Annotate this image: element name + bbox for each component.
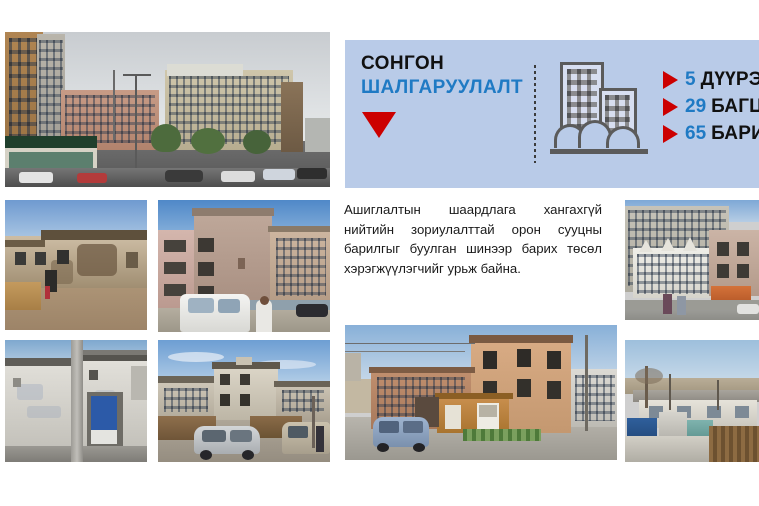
building-baseline bbox=[550, 149, 648, 154]
stat-number: 5 bbox=[685, 69, 696, 91]
photo-apartment-corner bbox=[158, 200, 330, 332]
arrow-right-icon bbox=[663, 71, 678, 89]
stat-label: БАГЦ bbox=[711, 96, 759, 118]
banner-title-line2: ШАЛГАРУУЛАЛТ bbox=[361, 76, 523, 100]
stat-number: 29 bbox=[685, 96, 706, 118]
arrow-right-icon bbox=[663, 98, 678, 116]
dotted-divider bbox=[534, 65, 536, 163]
triangle-down-icon bbox=[362, 112, 396, 138]
photo-corner-building bbox=[345, 325, 617, 460]
banner-title-line1: СОНГОН bbox=[361, 52, 523, 76]
banner-title: СОНГОН ШАЛГАРУУЛАЛТ bbox=[361, 52, 523, 100]
stat-item-buildings: 65 БАРИЛГА bbox=[663, 120, 759, 147]
stat-number: 65 bbox=[685, 123, 706, 145]
stats-list: 5 ДҮҮРЭГ 29 БАГЦ 65 БАРИЛГА bbox=[663, 66, 759, 147]
photo-derelict-row-house bbox=[5, 200, 147, 330]
slide-root: СОНГОН ШАЛГАРУУЛАЛТ 5 ДҮҮРЭГ 29 БАГ bbox=[0, 0, 759, 506]
building-icon bbox=[550, 62, 648, 162]
stat-label: БАРИЛГА bbox=[711, 123, 759, 145]
stat-item-packages: 29 БАГЦ bbox=[663, 93, 759, 120]
highlight-banner: СОНГОН ШАЛГАРУУЛАЛТ 5 ДҮҮРЭГ 29 БАГ bbox=[345, 40, 759, 188]
arrow-right-icon bbox=[663, 125, 678, 143]
photo-new-block-street bbox=[625, 200, 759, 320]
photo-courtyard-cars bbox=[158, 340, 330, 462]
stat-item-districts: 5 ДҮҮРЭГ bbox=[663, 66, 759, 93]
stat-label: ДҮҮРЭГ bbox=[701, 69, 759, 91]
photo-ger-district-fence bbox=[625, 340, 759, 462]
photo-white-shed bbox=[5, 340, 147, 462]
photo-street-panorama bbox=[5, 32, 330, 187]
body-paragraph: Ашиглалтын шаардлага хангахгүй нийтийн з… bbox=[344, 200, 602, 278]
